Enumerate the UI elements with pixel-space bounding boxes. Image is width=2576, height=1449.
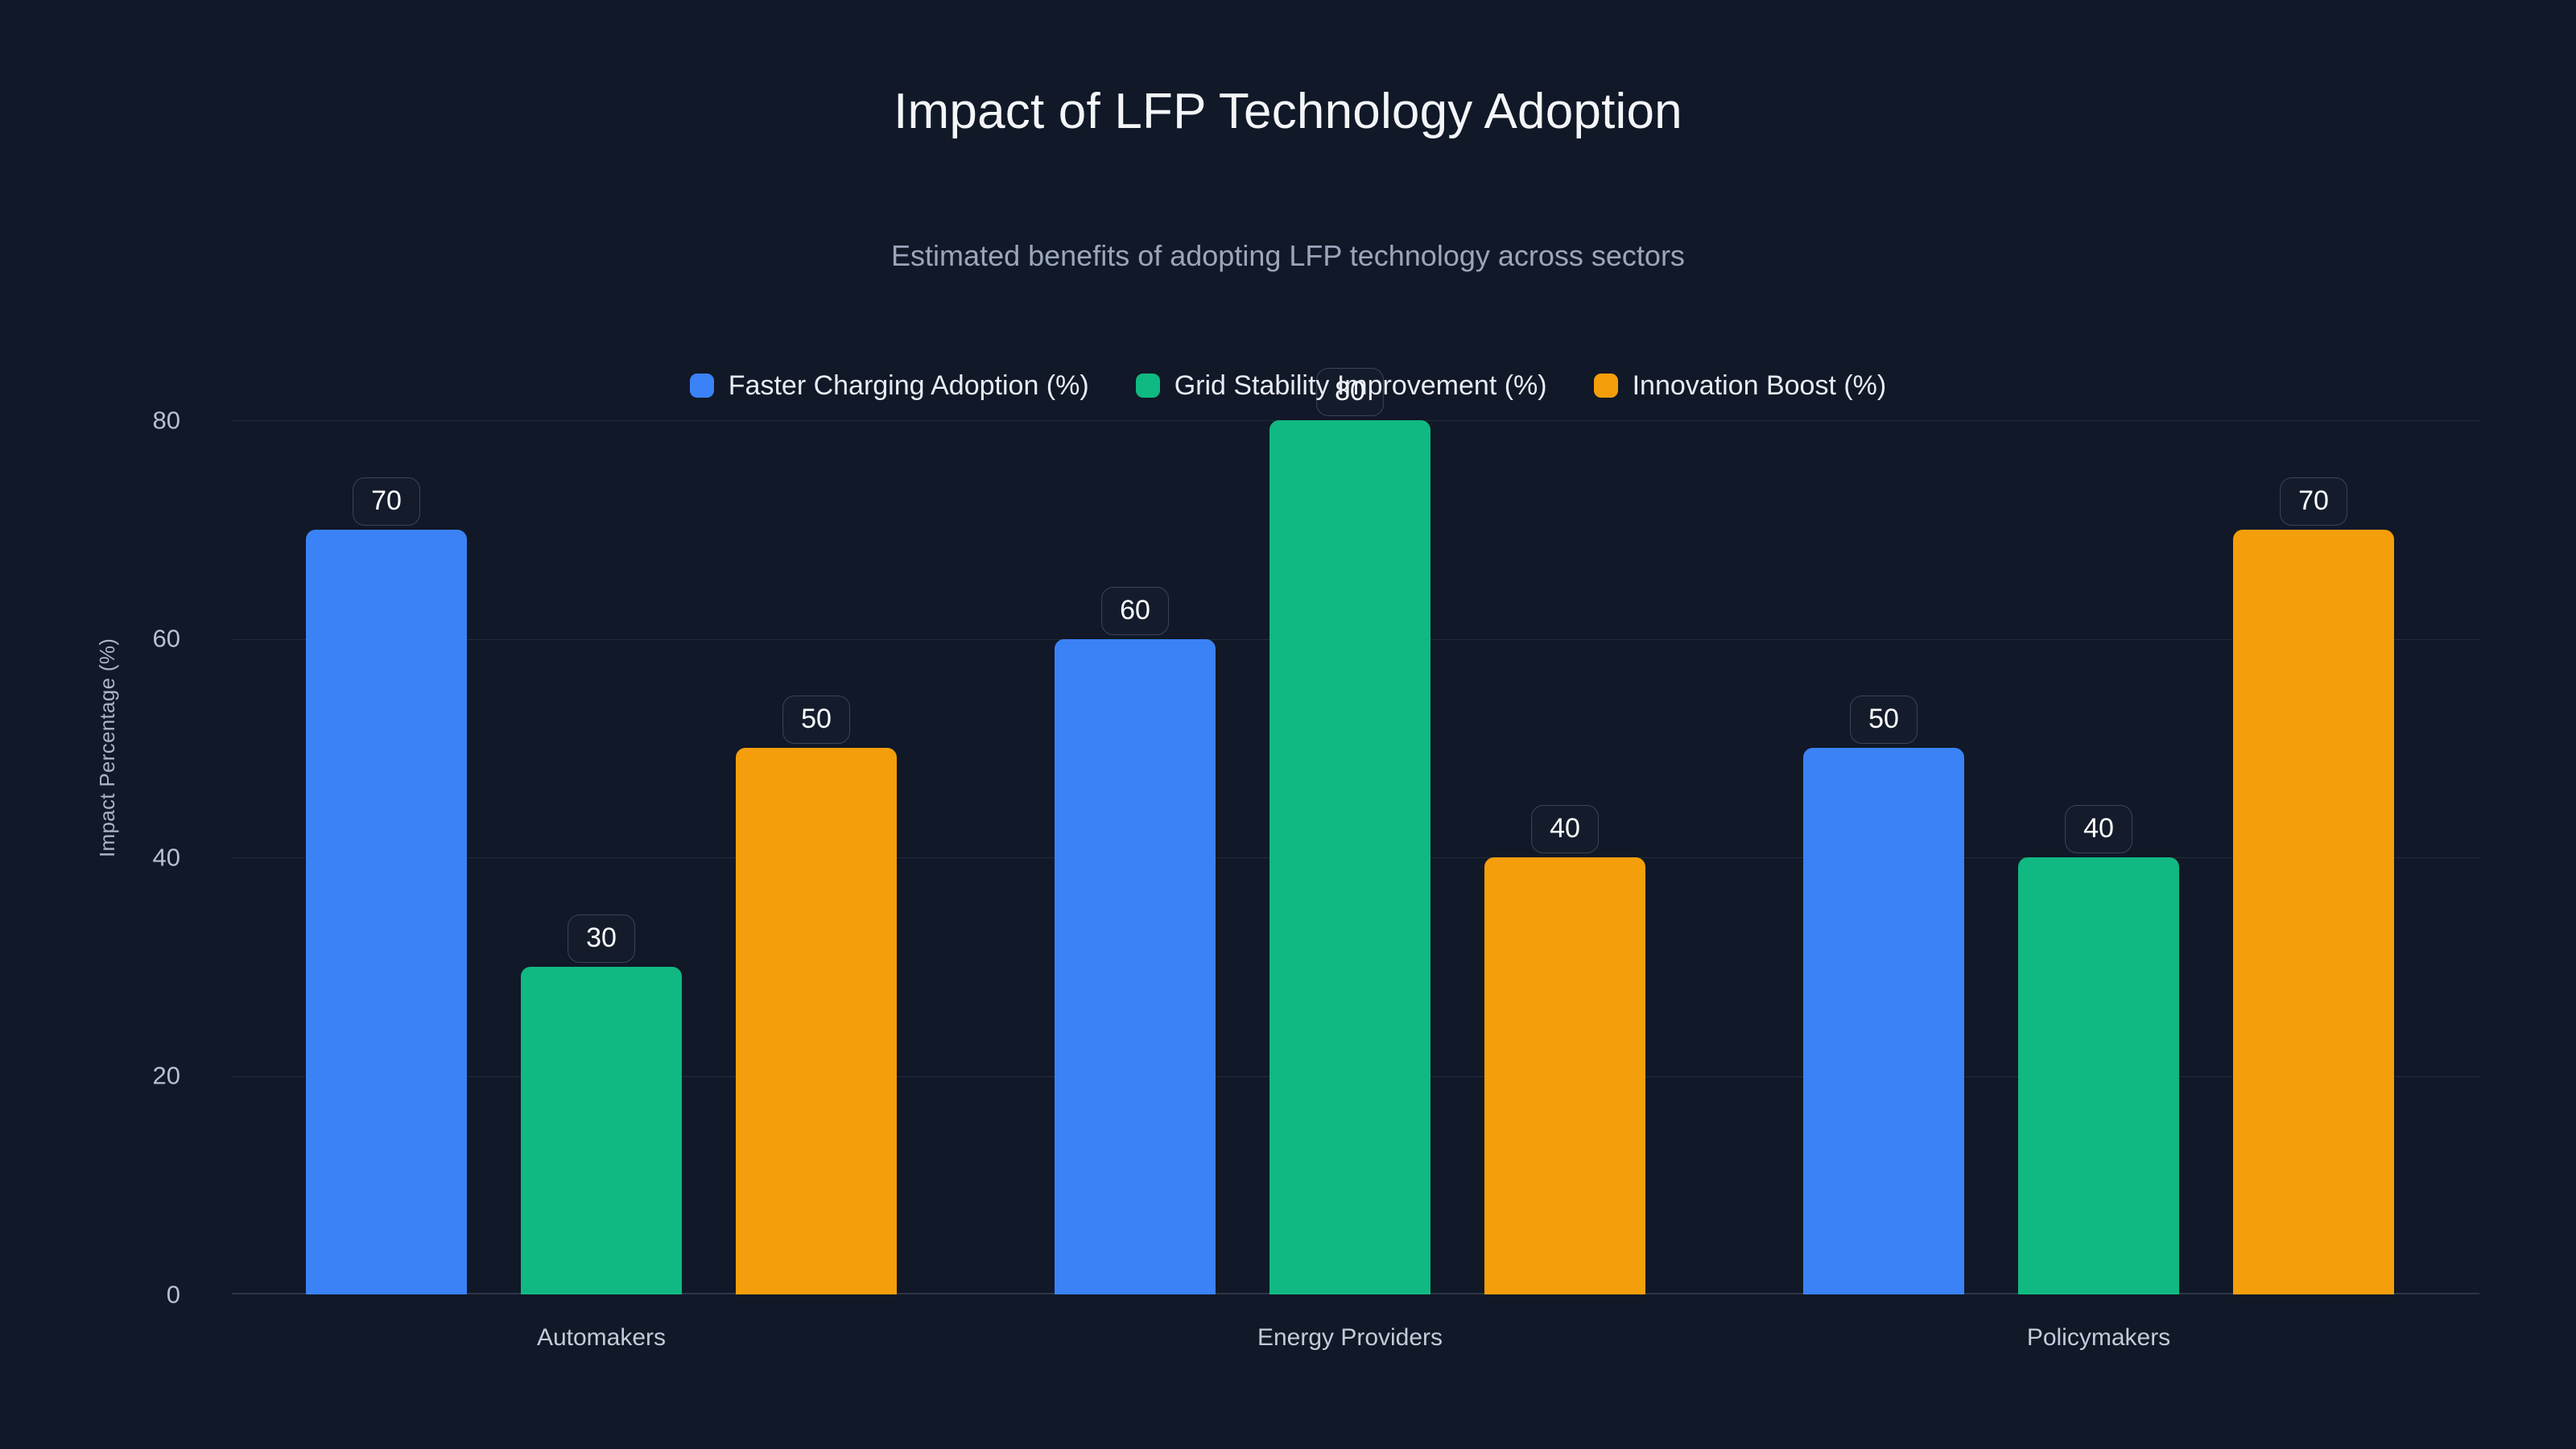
bar-energy-providers-innovation-boost[interactable]: [1484, 857, 1645, 1294]
y-tick-label-0: 0: [52, 1282, 180, 1307]
legend-swatch-blue-icon: [690, 374, 714, 398]
value-badge-policymakers-innovation-boost: 70: [2280, 477, 2347, 526]
y-tick-label-80: 80: [52, 408, 180, 433]
bar-automakers-innovation-boost[interactable]: [736, 748, 897, 1294]
y-tick-label-60: 60: [52, 626, 180, 651]
y-axis-title: Impact Percentage (%): [95, 638, 120, 857]
chart-title: Impact of LFP Technology Adoption: [0, 87, 2576, 137]
value-badge-automakers-innovation-boost: 50: [782, 696, 850, 744]
chart-legend: Faster Charging Adoption (%) Grid Stabil…: [0, 372, 2576, 399]
plot-area: 70 30 50 60 80 40 50 40 70: [232, 420, 2479, 1294]
value-badge-policymakers-faster-charging-adoption: 50: [1850, 696, 1918, 744]
y-tick-label-40: 40: [52, 845, 180, 870]
bar-policymakers-innovation-boost[interactable]: [2233, 530, 2394, 1294]
value-badge-automakers-grid-stability-improvement: 30: [568, 914, 635, 963]
y-tick-label-20: 20: [52, 1063, 180, 1088]
legend-item-innovation-boost[interactable]: Innovation Boost (%): [1594, 372, 1887, 399]
value-badge-automakers-faster-charging-adoption: 70: [353, 477, 420, 526]
bar-energy-providers-faster-charging-adoption[interactable]: [1055, 639, 1216, 1295]
bar-automakers-faster-charging-adoption[interactable]: [306, 530, 467, 1294]
legend-swatch-green-icon: [1136, 374, 1160, 398]
legend-item-faster-charging-adoption[interactable]: Faster Charging Adoption (%): [690, 372, 1089, 399]
legend-swatch-orange-icon: [1594, 374, 1618, 398]
legend-label-grid-stability-improvement: Grid Stability Improvement (%): [1174, 372, 1547, 399]
legend-item-grid-stability-improvement[interactable]: Grid Stability Improvement (%): [1136, 372, 1547, 399]
bar-policymakers-grid-stability-improvement[interactable]: [2018, 857, 2179, 1294]
x-axis-category-automakers: Automakers: [537, 1326, 666, 1350]
bar-chart-figure: Impact of LFP Technology Adoption Estima…: [0, 0, 2576, 1449]
bar-policymakers-faster-charging-adoption[interactable]: [1803, 748, 1964, 1294]
bar-automakers-grid-stability-improvement[interactable]: [521, 967, 682, 1294]
chart-subtitle: Estimated benefits of adopting LFP techn…: [0, 242, 2576, 270]
value-badge-policymakers-grid-stability-improvement: 40: [2065, 805, 2132, 853]
value-badge-energy-providers-innovation-boost: 40: [1531, 805, 1599, 853]
x-axis-category-energy-providers: Energy Providers: [1257, 1326, 1443, 1350]
legend-label-innovation-boost: Innovation Boost (%): [1633, 372, 1887, 399]
value-badge-energy-providers-faster-charging-adoption: 60: [1101, 587, 1169, 635]
x-axis-category-policymakers: Policymakers: [2027, 1326, 2170, 1350]
bar-energy-providers-grid-stability-improvement[interactable]: [1269, 420, 1430, 1294]
legend-label-faster-charging-adoption: Faster Charging Adoption (%): [729, 372, 1089, 399]
